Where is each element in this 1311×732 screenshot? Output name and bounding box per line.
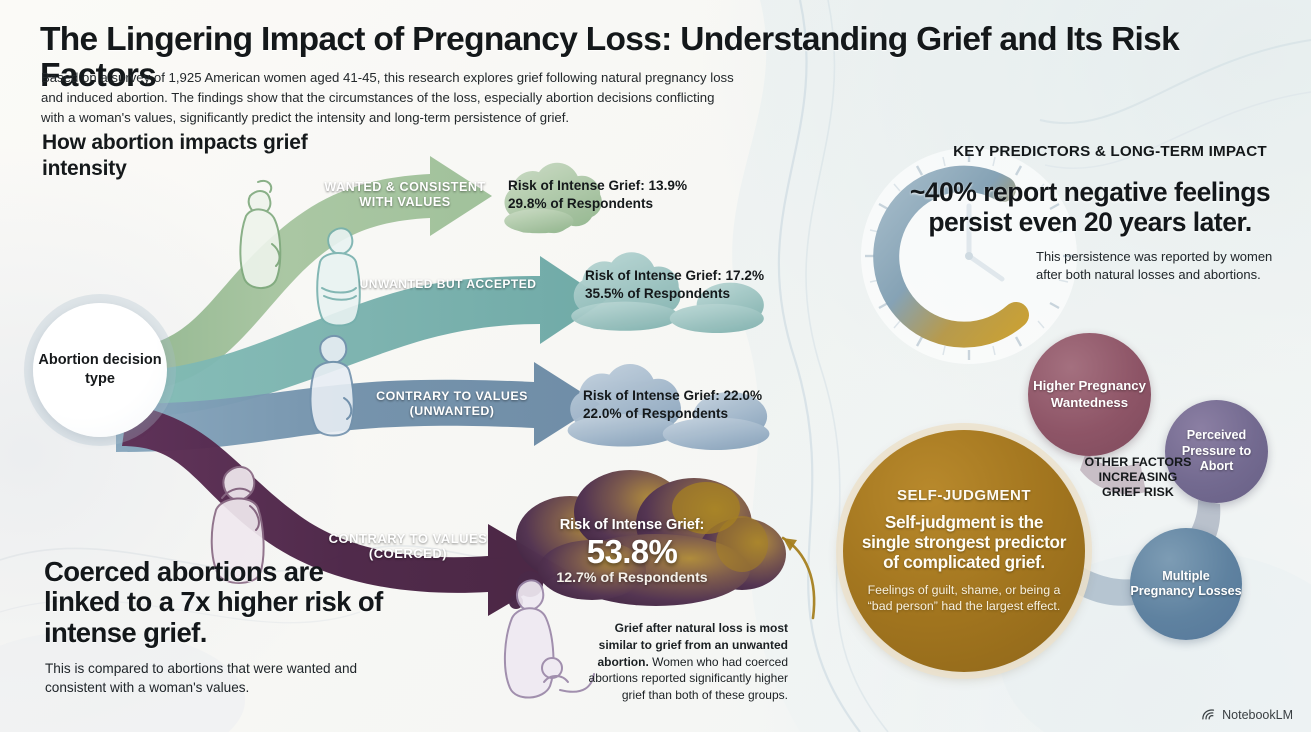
outcome-contrary-coerced: Risk of Intense Grief: 53.8% 12.7% of Re… (512, 516, 752, 588)
outcome-risk-line: Risk of Intense Grief: 13.9% (508, 177, 738, 195)
factor-bubble-higher-pregnancy-wantedness: Higher Pregnancy Wantedness (1028, 333, 1151, 456)
outcome-wanted-consistent: Risk of Intense Grief: 13.9% 29.8% of Re… (508, 177, 738, 212)
factor-bubble-multiple-pregnancy-losses: Multiple Pregnancy Losses (1130, 528, 1242, 640)
outcome-risk-value: 53.8% (512, 535, 752, 569)
page-subtitle: Based on a survey of 1,925 American wome… (41, 68, 741, 128)
outcome-risk-line: Risk of Intense Grief: 22.0% (583, 387, 815, 405)
coerced-callout-headline: Coerced abortions are linked to a 7x hig… (44, 557, 404, 648)
left-section-heading: How abortion impacts grief intensity (42, 130, 342, 181)
outcome-unwanted-accepted: Risk of Intense Grief: 17.2% 35.5% of Re… (585, 267, 817, 302)
factor-bubble-label: Higher Pregnancy Wantedness (1028, 378, 1151, 410)
outcome-risk-line: Risk of Intense Grief: 17.2% (585, 267, 817, 285)
outcome-share-line: 12.7% of Respondents (512, 569, 752, 587)
outcome-contrary-unwanted: Risk of Intense Grief: 22.0% 22.0% of Re… (583, 387, 815, 422)
hub-label: Abortion decision type (33, 351, 167, 388)
footer-brand-label: NotebookLM (1222, 708, 1293, 722)
natural-loss-note: Grief after natural loss is most similar… (578, 620, 788, 704)
infographic-canvas: The Lingering Impact of Pregnancy Loss: … (0, 0, 1311, 732)
band-label-wanted-consistent: WANTED & CONSISTENT WITH VALUES (310, 180, 500, 210)
self-judgment-kicker: SELF-JUDGMENT (897, 487, 1031, 504)
outcome-share-line: 35.5% of Respondents (585, 285, 817, 303)
self-judgment-subtext: Feelings of guilt, shame, or being a “ba… (861, 582, 1067, 615)
other-factors-label: OTHER FACTORS INCREASING GRIEF RISK (1083, 455, 1193, 500)
hub-abortion-decision-type: Abortion decision type (33, 303, 167, 437)
factor-bubble-label: Multiple Pregnancy Losses (1130, 569, 1242, 600)
band-label-unwanted-accepted: UNWANTED BUT ACCEPTED (358, 277, 538, 291)
self-judgment-circle: SELF-JUDGMENT Self-judgment is the singl… (843, 430, 1085, 672)
footer-brand: NotebookLM (1201, 707, 1293, 722)
right-panel-kicker: KEY PREDICTORS & LONG-TERM IMPACT (920, 143, 1300, 160)
coerced-callout-subtext: This is compared to abortions that were … (45, 659, 380, 698)
notebooklm-logo-icon (1201, 707, 1216, 722)
persistence-hero-stat: ~40% report negative feelings persist ev… (880, 178, 1300, 237)
outcome-share-line: 22.0% of Respondents (583, 405, 815, 423)
outcome-share-line: 29.8% of Respondents (508, 195, 738, 213)
persistence-hero-sub: This persistence was reported by women a… (1036, 248, 1284, 285)
self-judgment-headline: Self-judgment is the single strongest pr… (861, 513, 1067, 573)
band-label-contrary-unwanted: CONTRARY TO VALUES (UNWANTED) (354, 389, 550, 418)
